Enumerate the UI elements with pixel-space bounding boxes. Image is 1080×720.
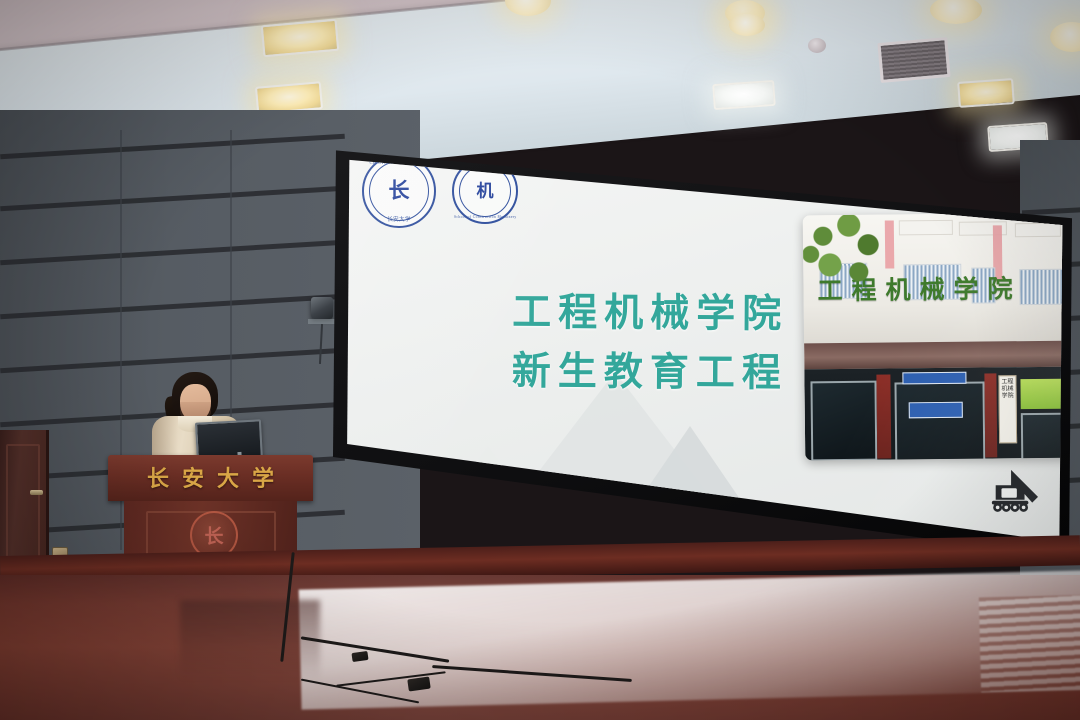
facade-panel	[899, 220, 953, 236]
entrance-green-sign	[1020, 379, 1066, 409]
rect-light-cool-center	[712, 80, 776, 110]
gear-icon	[352, 471, 415, 534]
college-building-photo: 工程机械学院 工程机械学院	[803, 213, 1075, 461]
led-video-wall: CHANG'AN UNIVERSITY 长 长安大学 工程机械学院 机 Scho…	[330, 128, 1075, 558]
entrance-pillar	[876, 375, 891, 459]
seal-mark: 长	[204, 522, 223, 549]
entrance-vertical-sign: 工程机械学院	[998, 375, 1017, 443]
entrance-notice-banner	[909, 402, 963, 419]
entrance-pillar	[984, 373, 997, 457]
podium-text: 长安大学	[108, 461, 313, 493]
auditorium-photo: CHANG'AN UNIVERSITY 长 长安大学 工程机械学院 机 Scho…	[0, 0, 1080, 720]
photo-entrance-area: 工程机械学院	[804, 367, 1075, 461]
facade-panel	[1015, 223, 1061, 237]
logo-mark: 机	[477, 183, 494, 200]
ceiling-air-vent	[877, 37, 950, 83]
photo-facade: 工程机械学院	[803, 213, 1074, 344]
rect-light-warm-left-upper	[261, 19, 339, 58]
entrance-glass-door	[894, 382, 985, 461]
excavator-icon	[982, 468, 1044, 518]
logo-mark: 长	[389, 181, 410, 202]
entrance-vertical-sign-text: 工程机械学院	[999, 376, 1015, 400]
smoke-detector	[808, 38, 826, 53]
slide-title-line2: 新生教育工程	[440, 342, 860, 404]
logo-arc-bottom: 长安大学	[364, 215, 434, 223]
slide-title: 工程机械学院 新生教育工程	[440, 283, 861, 404]
slide-title-line1: 工程机械学院	[440, 283, 860, 345]
entrance-blue-banner	[902, 372, 966, 385]
photo-entrance-canopy	[804, 341, 1074, 370]
door-handle[interactable]	[30, 490, 43, 495]
logo-arc-bottom: School of Construction Machinery	[454, 215, 516, 219]
round-light-center-glow	[729, 14, 765, 36]
tree-foliage	[803, 213, 896, 300]
rect-light-warm-right	[957, 78, 1015, 108]
floor-reflection-detail	[979, 595, 1080, 693]
entrance-glass-door	[810, 381, 877, 461]
floor-podium-reflection	[180, 600, 320, 680]
